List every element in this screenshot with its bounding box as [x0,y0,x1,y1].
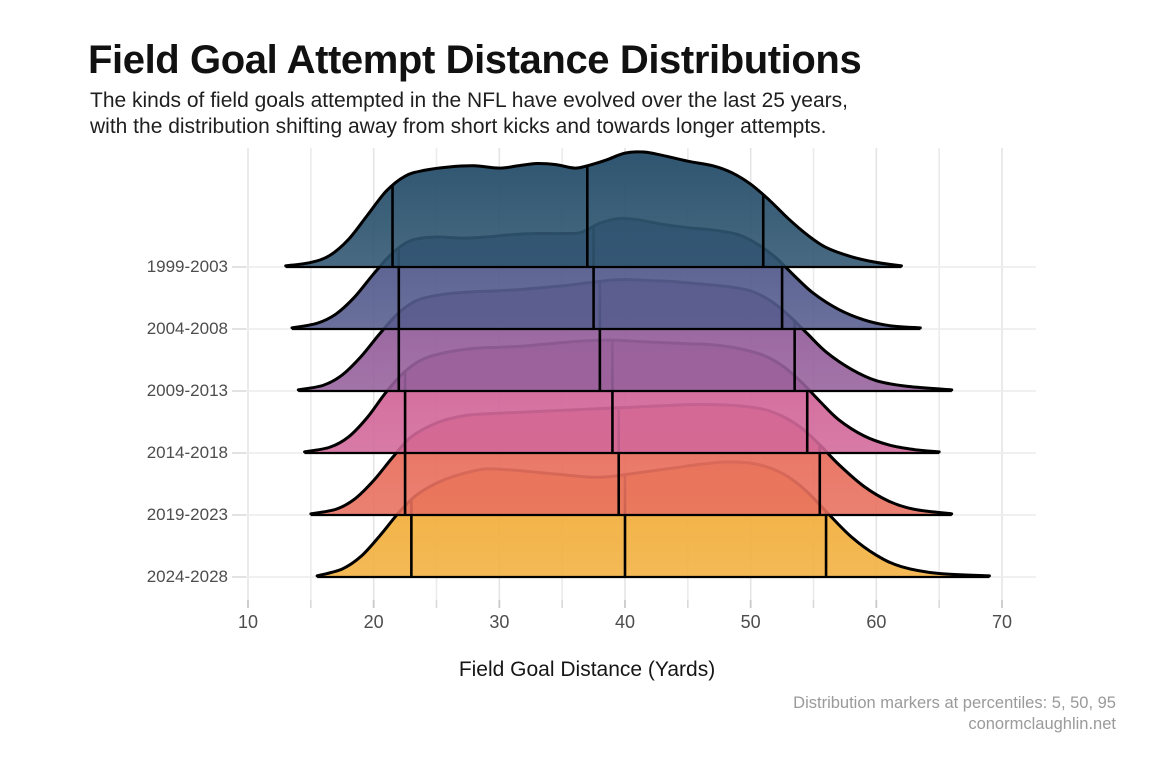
y-axis-tick-label: 1999-2003 [147,257,228,277]
y-axis-tick-label: 2014-2018 [147,443,228,463]
x-axis-title: Field Goal Distance (Yards) [0,658,1174,682]
x-axis-tick-label: 20 [364,612,384,633]
ridgeline-plot [0,0,1174,760]
y-axis-tick-label: 2024-2028 [147,567,228,587]
x-axis-tick-label: 70 [992,612,1012,633]
x-axis-tick-label: 60 [866,612,886,633]
chart-caption: Distribution markers at percentiles: 5, … [793,693,1116,735]
x-axis-tick-label: 30 [489,612,509,633]
x-axis-tick-label: 10 [238,612,258,633]
x-axis-tick-label: 50 [741,612,761,633]
y-axis-tick-label: 2019-2023 [147,505,228,525]
caption-percentile-note: Distribution markers at percentiles: 5, … [793,693,1116,714]
y-axis-tick-label: 2004-2008 [147,319,228,339]
x-tick-marks [248,600,1002,608]
y-axis-tick-label: 2009-2013 [147,381,228,401]
ridge-1999-2003 [286,152,902,267]
chart-figure: Field Goal Attempt Distance Distribution… [0,0,1174,760]
caption-source: conormclaughlin.net [793,714,1116,735]
y-tick-marks [232,267,246,577]
ridge-area [286,152,902,267]
x-axis-tick-label: 40 [615,612,635,633]
